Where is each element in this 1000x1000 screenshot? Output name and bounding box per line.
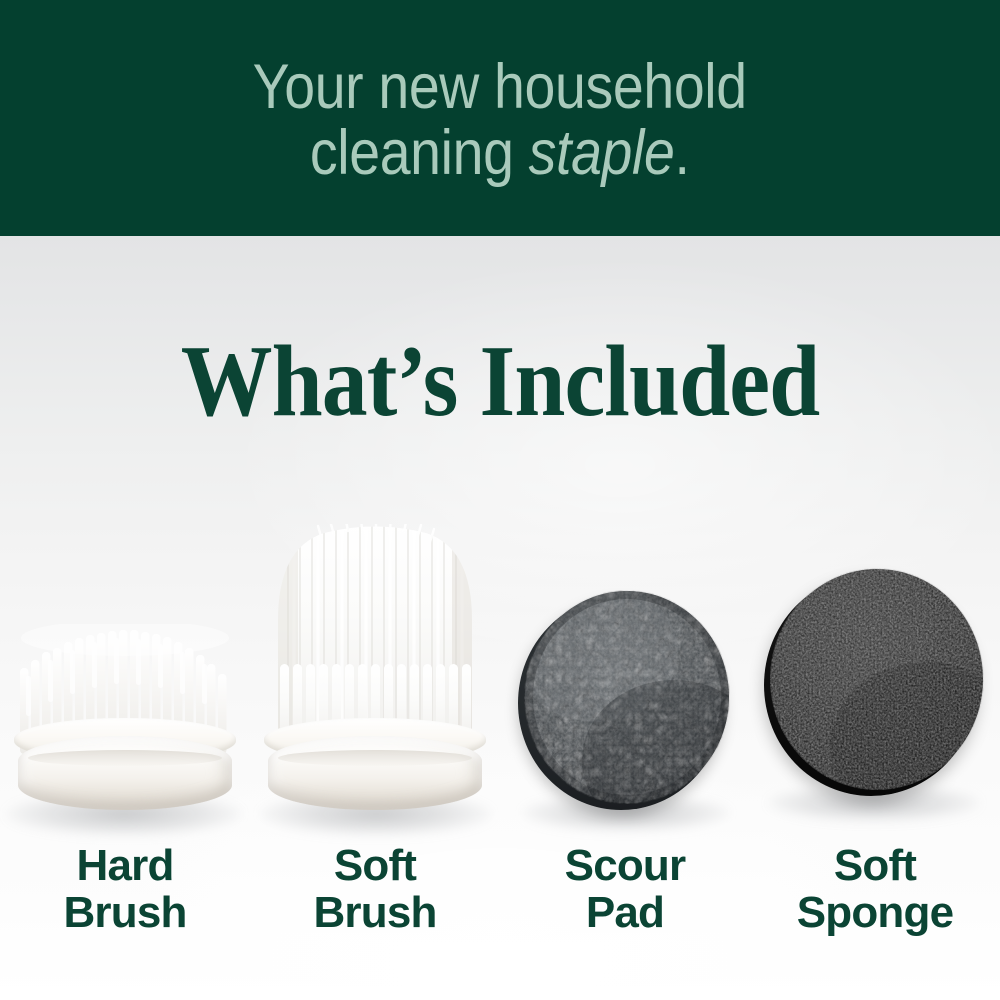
headline-line-1: Your new household xyxy=(253,56,747,118)
soft-brush-icon xyxy=(250,530,500,824)
product-card-hard-brush[interactable]: Hard Brush xyxy=(0,530,250,1000)
soft-brush-base xyxy=(268,736,482,810)
product-label-line-2: Brush xyxy=(0,889,250,936)
hard-brush-base xyxy=(18,736,232,810)
product-card-soft-brush[interactable]: Soft Brush xyxy=(250,530,500,1000)
product-label-line-2: Brush xyxy=(250,889,500,936)
header-banner: Your new household cleaning staple. xyxy=(0,0,1000,236)
product-label-line-2: Sponge xyxy=(750,889,1000,936)
soft-sponge-face xyxy=(770,568,984,790)
product-label-hard-brush: Hard Brush xyxy=(0,842,250,936)
product-label-line-1: Scour xyxy=(500,842,750,889)
product-card-scour-pad[interactable]: Scour Pad xyxy=(500,530,750,1000)
hard-brush-base-groove xyxy=(28,750,222,766)
headline-block: Your new household cleaning staple. xyxy=(0,0,1000,236)
product-label-line-1: Soft xyxy=(750,842,1000,889)
headline-line-2-suffix: . xyxy=(675,118,690,188)
product-label-scour-pad: Scour Pad xyxy=(500,842,750,936)
scour-pad-icon xyxy=(500,530,750,824)
product-label-line-2: Pad xyxy=(500,889,750,936)
scour-pad-face xyxy=(524,590,730,804)
product-infographic: Your new household cleaning staple. What… xyxy=(0,0,1000,1000)
headline-emphasis-word: staple xyxy=(529,118,675,188)
headline-line-2-prefix: cleaning xyxy=(310,118,529,188)
headline-line-2: cleaning staple. xyxy=(310,122,690,184)
soft-brush-base-groove xyxy=(278,750,472,766)
soft-sponge-icon xyxy=(750,530,1000,824)
product-label-soft-brush: Soft Brush xyxy=(250,842,500,936)
product-label-line-1: Soft xyxy=(250,842,500,889)
product-label-soft-sponge: Soft Sponge xyxy=(750,842,1000,936)
product-card-soft-sponge[interactable]: Soft Sponge xyxy=(750,530,1000,1000)
hard-brush-icon xyxy=(0,530,250,824)
product-row: Hard Brush xyxy=(0,236,1000,1000)
product-label-line-1: Hard xyxy=(0,842,250,889)
